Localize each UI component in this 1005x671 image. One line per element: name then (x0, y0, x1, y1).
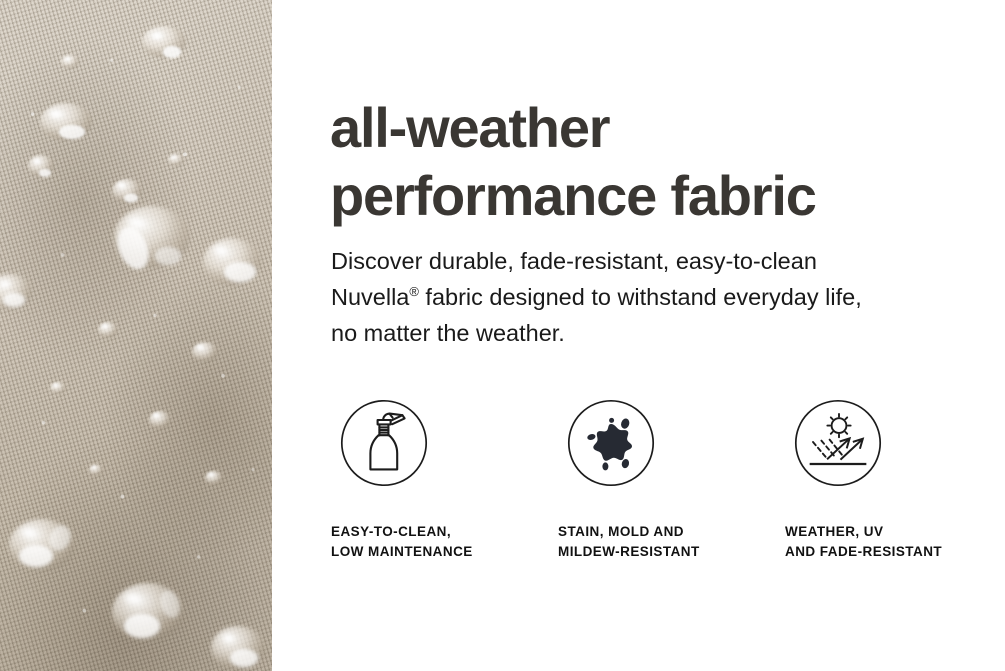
content-panel: all-weather performance fabric Discover … (272, 0, 1005, 671)
all-weather-fabric-banner: all-weather performance fabric Discover … (0, 0, 1005, 671)
subcopy-paragraph: Discover durable, fade-resistant, easy-t… (331, 243, 971, 351)
feature-caption: STAIN, MOLD AND MILDEW-RESISTANT (558, 487, 785, 562)
stain-splat-icon (567, 399, 655, 487)
feature-item-easy-to-clean: EASY-TO-CLEAN, LOW MAINTENANCE (331, 399, 558, 562)
feature-caption: EASY-TO-CLEAN, LOW MAINTENANCE (331, 487, 558, 562)
fabric-photo (0, 0, 272, 671)
subcopy-line-3: no matter the weather. (331, 320, 565, 346)
feature-list: EASY-TO-CLEAN, LOW MAINTENANCE STAIN, MO… (331, 399, 1005, 562)
spray-bottle-icon (340, 399, 428, 487)
water-droplets-group (0, 0, 272, 671)
registered-trademark-icon: ® (409, 284, 419, 299)
feature-caption: WEATHER, UV AND FADE-RESISTANT (785, 487, 1005, 562)
feature-item-weather-uv-resistant: WEATHER, UV AND FADE-RESISTANT (785, 399, 1005, 562)
sun-uv-reflect-icon (794, 399, 882, 487)
subcopy-line-2: fabric designed to withstand everyday li… (419, 284, 862, 310)
page-title: all-weather performance fabric (330, 94, 990, 230)
feature-item-stain-resistant: STAIN, MOLD AND MILDEW-RESISTANT (558, 399, 785, 562)
subcopy-brand-name: Nuvella (331, 284, 409, 310)
subcopy-line-1: Discover durable, fade-resistant, easy-t… (331, 248, 817, 274)
